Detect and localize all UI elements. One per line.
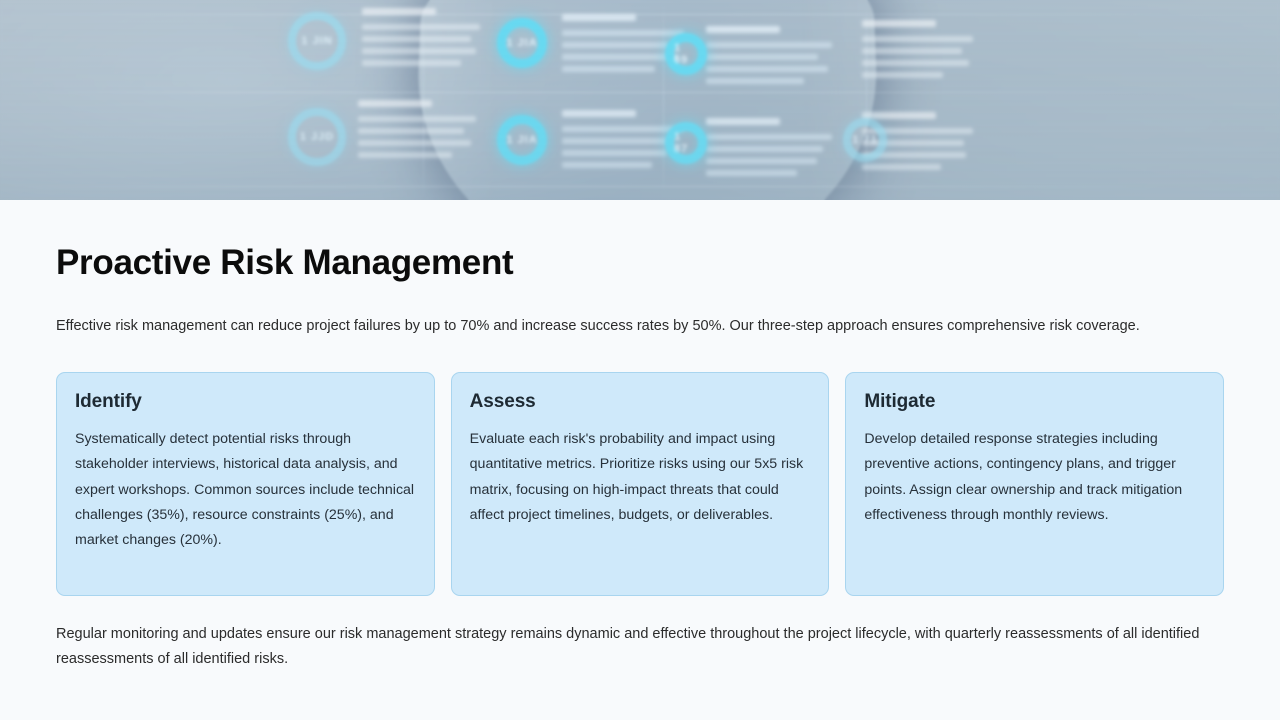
hero-ring-icon: 1 JIA: [497, 18, 547, 68]
step-card-assess[interactable]: Assess Evaluate each risk's probability …: [451, 372, 830, 596]
footer-note: Regular monitoring and updates ensure ou…: [56, 622, 1216, 672]
step-card-title: Mitigate: [864, 391, 1205, 413]
hero-ring-label: 1 JIA: [506, 124, 538, 156]
step-card-identify[interactable]: Identify Systematically detect potential…: [56, 372, 435, 596]
step-card-title: Identify: [75, 391, 416, 413]
hero-ring-label: 1 JIA: [506, 27, 538, 59]
hero-ring-icon: 1 87: [665, 122, 707, 164]
hero-divider-line: [0, 186, 1280, 187]
hero-text-block: [862, 20, 978, 84]
page-root: 1 JIN 1 JJD 1 JIA 1 JIA 1 69 1 87 1 71 P…: [0, 0, 1280, 720]
step-card-mitigate[interactable]: Mitigate Develop detailed response strat…: [845, 372, 1224, 596]
hero-ring-icon: 1 JJD: [288, 108, 346, 166]
hero-text-block: [706, 26, 832, 90]
hero-text-block: [706, 118, 832, 182]
hero-text-block: [358, 100, 476, 164]
hero-ring-icon: 1 JIA: [497, 115, 547, 165]
hero-ring-label: 1 JJD: [296, 116, 338, 158]
hero-ring-label: 1 JIN: [296, 20, 338, 62]
page-title: Proactive Risk Management: [56, 244, 1224, 283]
steps-card-row: Identify Systematically detect potential…: [56, 372, 1224, 596]
hero-ring-icon: 1 71: [843, 118, 887, 162]
step-card-body: Systematically detect potential risks th…: [75, 427, 416, 553]
hero-ring-icon: 1 69: [665, 33, 707, 75]
step-card-title: Assess: [470, 391, 811, 413]
hero-banner-image: 1 JIN 1 JJD 1 JIA 1 JIA 1 69 1 87 1 71: [0, 0, 1280, 200]
hero-ring-label: 1 69: [674, 42, 698, 66]
main-content: Proactive Risk Management Effective risk…: [0, 244, 1280, 672]
hero-ring-label: 1 71: [851, 126, 879, 154]
step-card-body: Evaluate each risk's probability and imp…: [470, 427, 811, 528]
intro-paragraph: Effective risk management can reduce pro…: [56, 315, 1224, 337]
hero-ring-icon: 1 JIN: [288, 12, 346, 70]
hero-text-block: [362, 8, 480, 72]
hero-divider-line: [0, 92, 1280, 93]
step-card-body: Develop detailed response strategies inc…: [864, 427, 1205, 528]
hero-ring-label: 1 87: [674, 131, 698, 155]
